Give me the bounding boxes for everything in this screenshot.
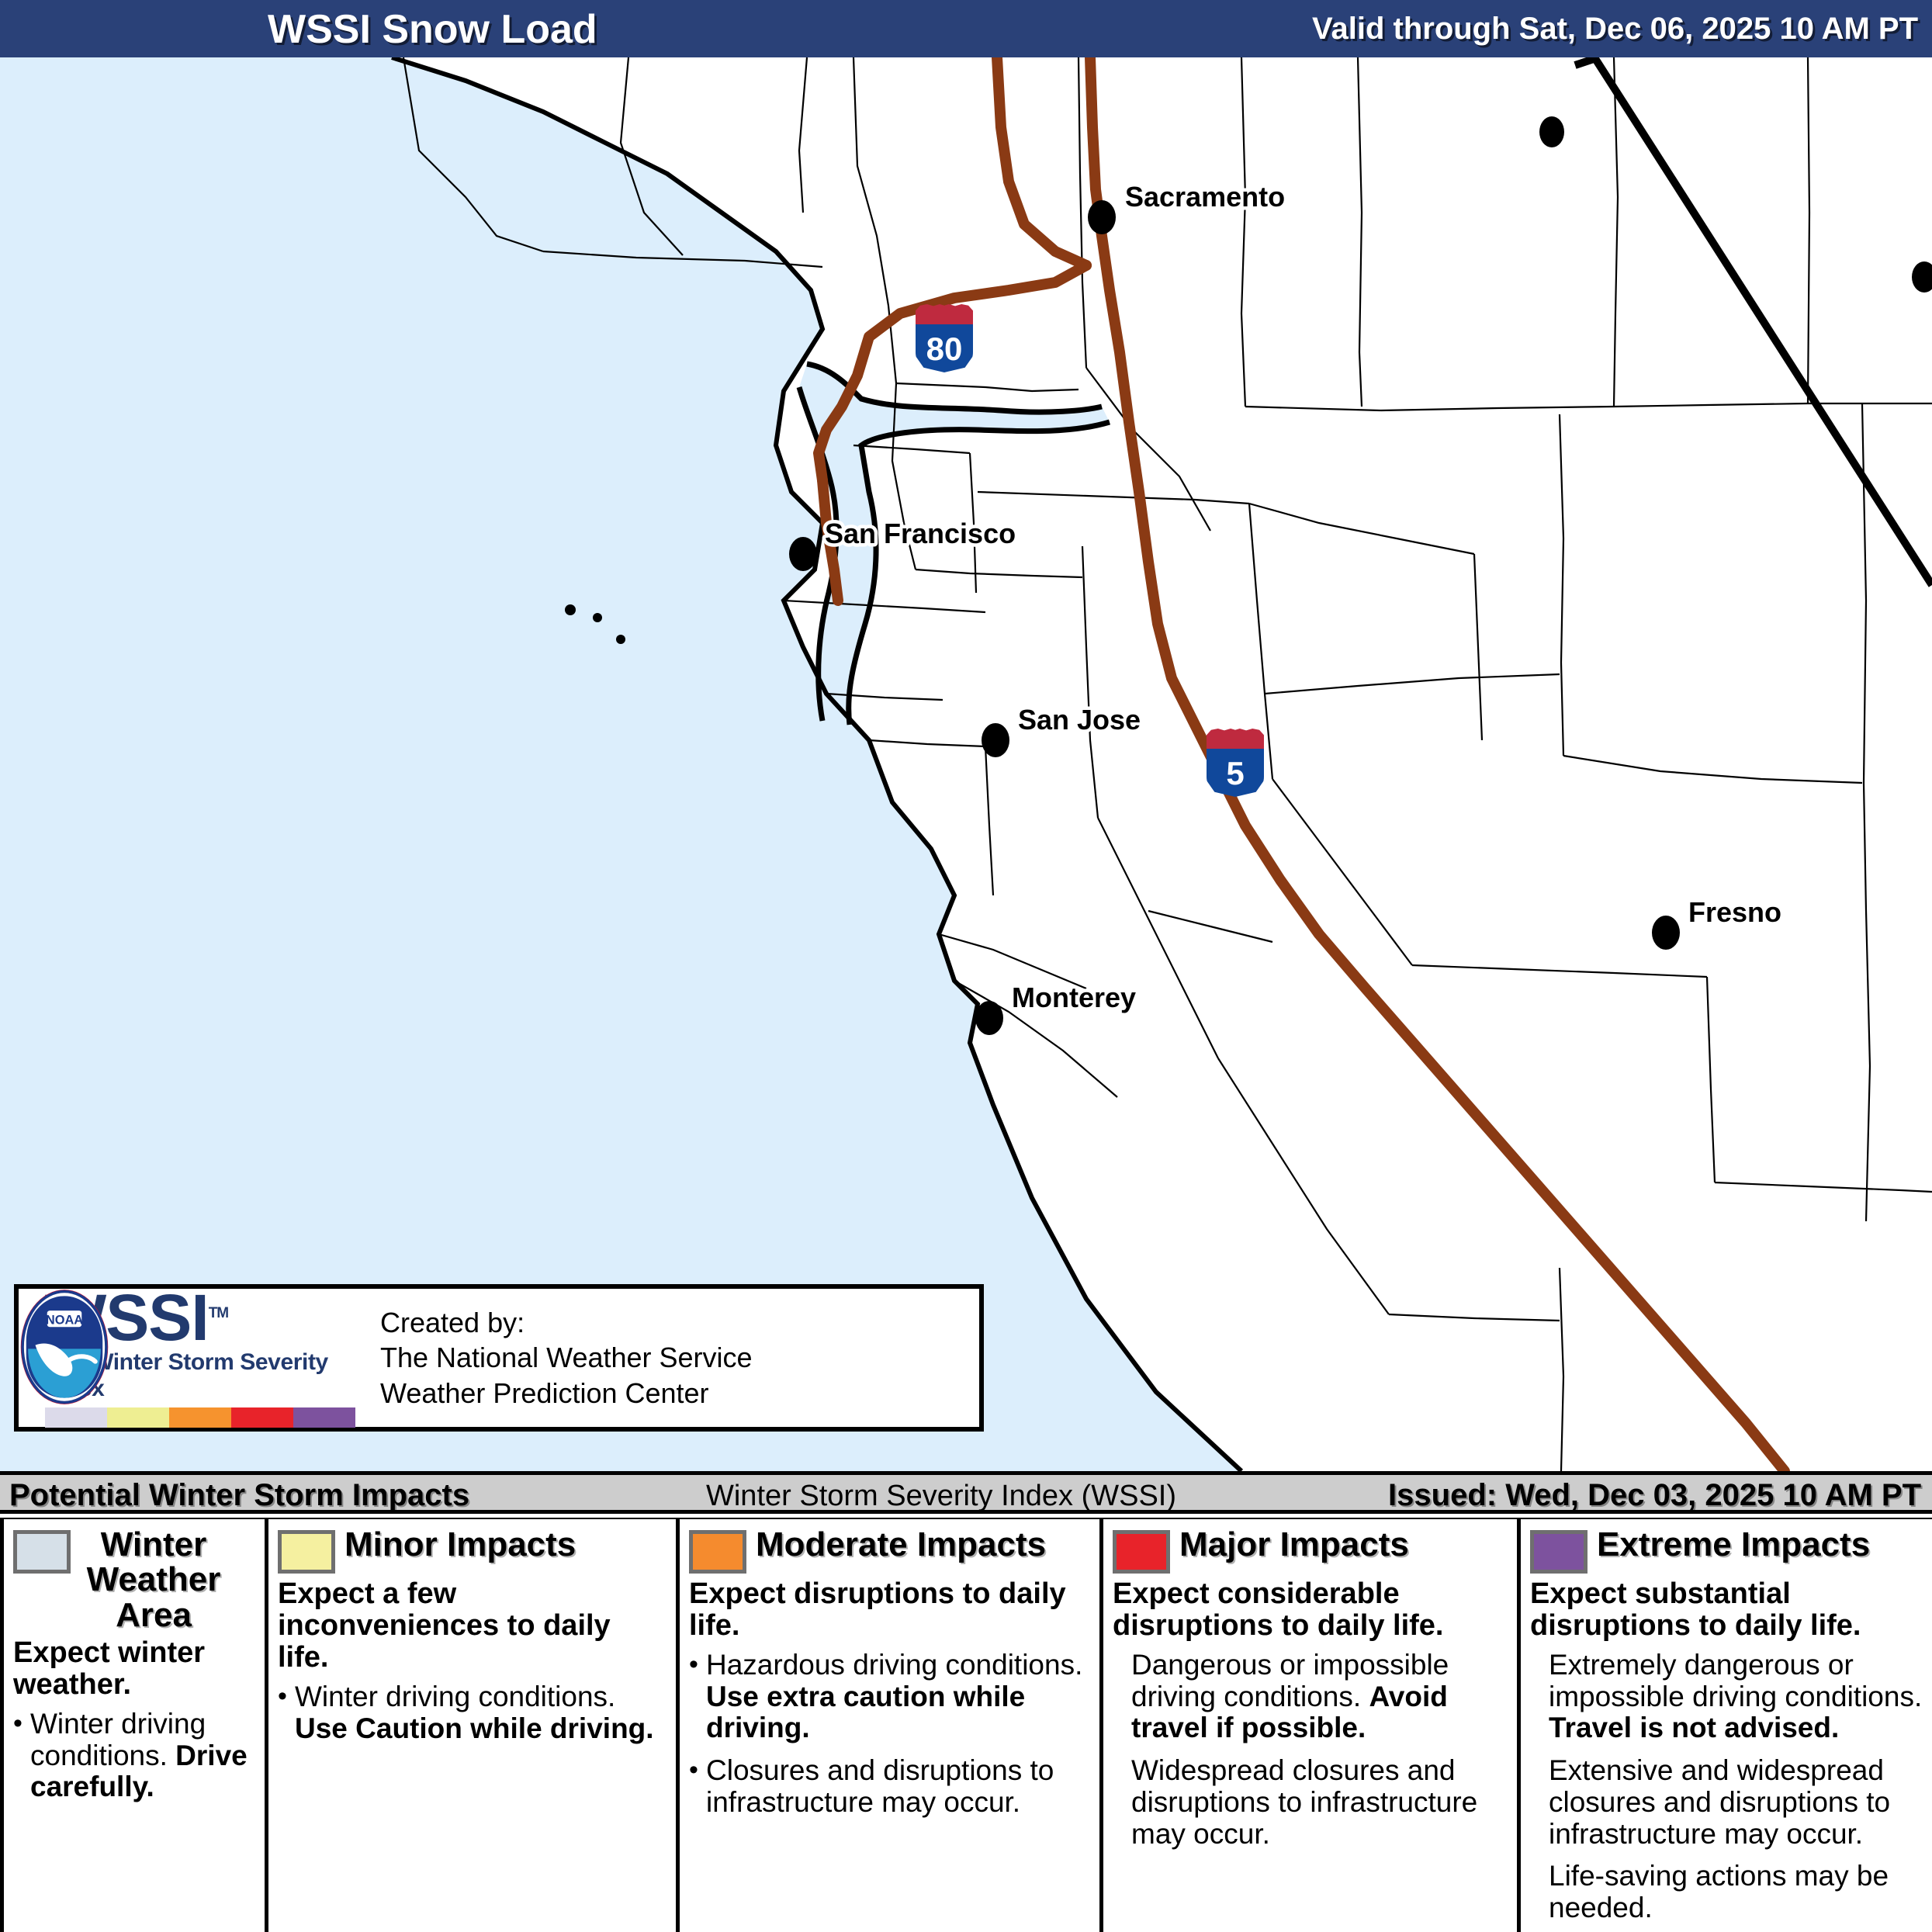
bullet-text: Winter driving conditions. Use Caution w… <box>295 1681 667 1744</box>
city-dot-san-jose <box>982 723 1009 757</box>
legend-bullet: • Closures and disruptions to infrastruc… <box>689 1755 1090 1818</box>
legend-title-minor-impacts: Minor Impacts <box>345 1527 576 1562</box>
agency-line-2: Weather Prediction Center <box>380 1376 753 1411</box>
agency-line-1: The National Weather Service <box>380 1340 753 1375</box>
svg-text:NOAA: NOAA <box>46 1314 83 1328</box>
legend-swatch-minor-impacts <box>278 1530 335 1574</box>
legend-header: Moderate Impacts <box>689 1527 1090 1574</box>
bullet-dot-icon: • <box>689 1755 706 1818</box>
wssi-logo-panel: WSSITM The Winter Storm Severity Index ★… <box>14 1284 984 1432</box>
legend-bullet: • Winter driving conditions. Drive caref… <box>13 1709 255 1803</box>
legend-bullet: • Dangerous or impossible driving condit… <box>1113 1650 1508 1744</box>
bullet-dot-icon: • <box>278 1681 295 1744</box>
legend-title-major-impacts: Major Impacts <box>1179 1527 1409 1562</box>
shield-top-band <box>1207 729 1264 752</box>
wssi-map[interactable]: Sacramento San Francisco San Jose Fresno… <box>0 57 1932 1471</box>
bullet-text: Extremely dangerous or impossible drivin… <box>1549 1650 1923 1744</box>
offshore-island <box>565 604 576 615</box>
city-dot-monterey <box>975 1001 1003 1035</box>
legend-bullet: • Extremely dangerous or impossible driv… <box>1530 1650 1923 1744</box>
issued-text: Issued: Wed, Dec 03, 2025 10 AM PT <box>1388 1478 1921 1513</box>
legend-title-extreme-impacts: Extreme Impacts <box>1597 1527 1870 1562</box>
bullet-text: Closures and disruptions to infrastructu… <box>706 1755 1090 1818</box>
legend-summary: Expect disruptions to daily life. <box>689 1578 1090 1642</box>
shield-route-number: 5 <box>1207 755 1264 792</box>
impacts-bar-subtitle: Winter Storm Severity Index (WSSI) <box>706 1480 1176 1513</box>
interstate-shield-80: 80 <box>916 304 973 372</box>
legend-column-moderate-impacts[interactable]: Moderate Impacts Expect disruptions to d… <box>680 1519 1103 1932</box>
bullet-text: Hazardous driving conditions. Use extra … <box>706 1650 1090 1744</box>
legend-summary: Expect substantial disruptions to daily … <box>1530 1578 1923 1642</box>
page-title: WSSI Snow Load <box>268 6 597 53</box>
legend-bullet: • Hazardous driving conditions. Use extr… <box>689 1650 1090 1744</box>
legend-bullets: • Winter driving conditions. Drive caref… <box>13 1709 255 1803</box>
legend-column-major-impacts[interactable]: Major Impacts Expect considerable disrup… <box>1103 1519 1521 1932</box>
legend-summary: Expect winter weather. <box>13 1637 255 1701</box>
legend-bullet: • Life-saving actions may be needed. <box>1530 1861 1923 1923</box>
legend-bullet: • Extensive and widespread closures and … <box>1530 1755 1923 1850</box>
city-dot-unlabeled-ne <box>1539 116 1564 147</box>
wssi-color-strip <box>45 1407 355 1428</box>
legend-swatch-extreme-impacts <box>1530 1530 1587 1574</box>
city-dot-san-francisco <box>789 537 817 571</box>
legend-header: Extreme Impacts <box>1530 1527 1923 1574</box>
shield-top-band <box>916 304 973 327</box>
legend-header: Winter Weather Area <box>13 1527 255 1633</box>
bullet-text: Widespread closures and disruptions to i… <box>1131 1755 1508 1850</box>
bullet-text: Extensive and widespread closures and di… <box>1549 1755 1923 1850</box>
impacts-legend: Winter Weather Area Expect winter weathe… <box>0 1518 1932 1932</box>
page-header: WSSI Snow Load Valid through Sat, Dec 06… <box>0 0 1932 57</box>
legend-summary: Expect considerable disruptions to daily… <box>1113 1578 1508 1642</box>
legend-column-winter-weather-area[interactable]: Winter Weather Area Expect winter weathe… <box>0 1519 268 1932</box>
legend-bullets: • Winter driving conditions. Use Caution… <box>278 1681 667 1744</box>
shield-route-number: 80 <box>916 331 973 368</box>
legend-bullet: • Winter driving conditions. Use Caution… <box>278 1681 667 1744</box>
noaa-seal-icon: NOAA <box>19 1289 110 1405</box>
impacts-bar-title: Potential Winter Storm Impacts <box>9 1478 469 1513</box>
offshore-island <box>616 635 625 644</box>
legend-summary: Expect a few inconveniences to daily lif… <box>278 1578 667 1674</box>
interstate-shield-5: 5 <box>1207 729 1264 797</box>
legend-swatch-winter-weather-area <box>13 1530 71 1574</box>
city-label-fresno: Fresno <box>1688 896 1781 928</box>
city-dot-sacramento <box>1088 200 1116 234</box>
bullet-dot-icon: • <box>13 1709 30 1803</box>
legend-swatch-moderate-impacts <box>689 1530 746 1574</box>
valid-through-text: Valid through Sat, Dec 06, 2025 10 AM PT <box>1312 12 1918 47</box>
impacts-status-bar: Potential Winter Storm Impacts Winter St… <box>0 1471 1932 1514</box>
offshore-island <box>593 613 602 622</box>
bullet-text: Winter driving conditions. Drive careful… <box>30 1709 255 1803</box>
legend-title-winter-weather-area: Winter Weather Area <box>80 1527 227 1633</box>
bullet-dot-icon: • <box>689 1650 706 1744</box>
legend-bullets: • Hazardous driving conditions. Use extr… <box>689 1650 1090 1818</box>
legend-bullets: • Extremely dangerous or impossible driv… <box>1530 1650 1923 1924</box>
legend-title-moderate-impacts: Moderate Impacts <box>756 1527 1046 1562</box>
legend-bullets: • Dangerous or impossible driving condit… <box>1113 1650 1508 1850</box>
legend-column-extreme-impacts[interactable]: Extreme Impacts Expect substantial disru… <box>1521 1519 1932 1932</box>
map-geometry: Sacramento San Francisco San Jose Fresno… <box>0 57 1932 1471</box>
city-label-monterey: Monterey <box>1012 982 1136 1013</box>
city-label-sacramento: Sacramento <box>1125 181 1285 213</box>
created-by-block: Created by: The National Weather Service… <box>360 1305 753 1411</box>
trademark-mark: TM <box>209 1305 228 1321</box>
created-by-label: Created by: <box>380 1305 753 1340</box>
city-label-san-jose: San Jose <box>1018 704 1141 736</box>
legend-column-minor-impacts[interactable]: Minor Impacts Expect a few inconvenience… <box>268 1519 680 1932</box>
legend-header: Minor Impacts <box>278 1527 667 1574</box>
legend-header: Major Impacts <box>1113 1527 1508 1574</box>
bullet-text: Dangerous or impossible driving conditio… <box>1131 1650 1508 1744</box>
legend-bullet: • Widespread closures and disruptions to… <box>1113 1755 1508 1850</box>
legend-swatch-major-impacts <box>1113 1530 1170 1574</box>
city-label-san-francisco: San Francisco <box>825 518 1016 549</box>
bullet-text: Life-saving actions may be needed. <box>1549 1861 1923 1923</box>
city-dot-fresno <box>1652 916 1680 950</box>
